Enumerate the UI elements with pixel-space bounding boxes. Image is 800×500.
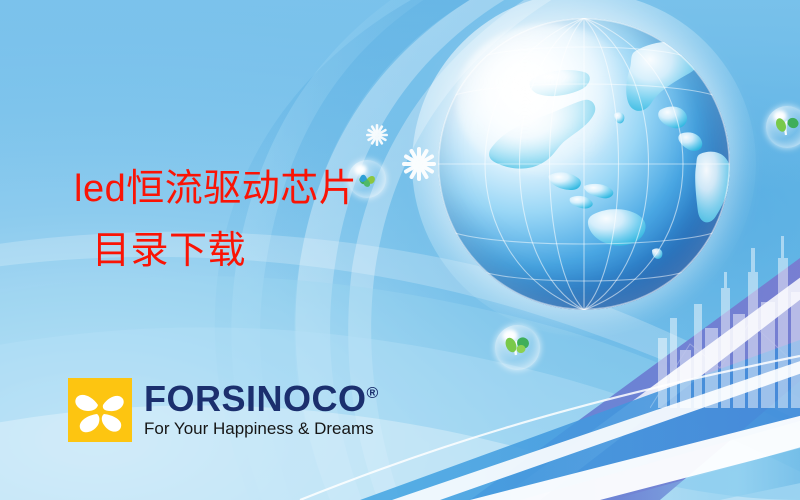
slide-canvas: led恒流驱动芯片 目录下载 FORSINOCO® For Your Happi… (0, 0, 800, 500)
logo-text-block: FORSINOCO® For Your Happiness & Dreams (144, 381, 379, 439)
brand-name: FORSINOCO® (144, 381, 379, 417)
globe-illustration (438, 18, 730, 310)
headline-line-1: led恒流驱动芯片 (74, 158, 357, 220)
sparkle-star-small-icon (366, 124, 388, 146)
page-title: led恒流驱动芯片 目录下载 (74, 158, 357, 282)
brand-name-text: FORSINOCO (144, 378, 367, 419)
registered-trademark-icon: ® (367, 385, 379, 402)
sparkle-star-large-icon (402, 147, 436, 181)
brand-logo: FORSINOCO® For Your Happiness & Dreams (68, 378, 379, 442)
green-sprout-icon (495, 325, 540, 370)
green-sprout-icon (766, 106, 800, 148)
pinwheel-petals (68, 378, 132, 442)
four-petal-pinwheel-icon (68, 378, 132, 442)
headline-line-2: 目录下载 (74, 220, 357, 282)
bubble-sprout (495, 325, 540, 370)
brand-tagline: For Your Happiness & Dreams (144, 420, 379, 439)
bubble-edge-right (766, 106, 800, 148)
globe-rim (438, 18, 730, 310)
